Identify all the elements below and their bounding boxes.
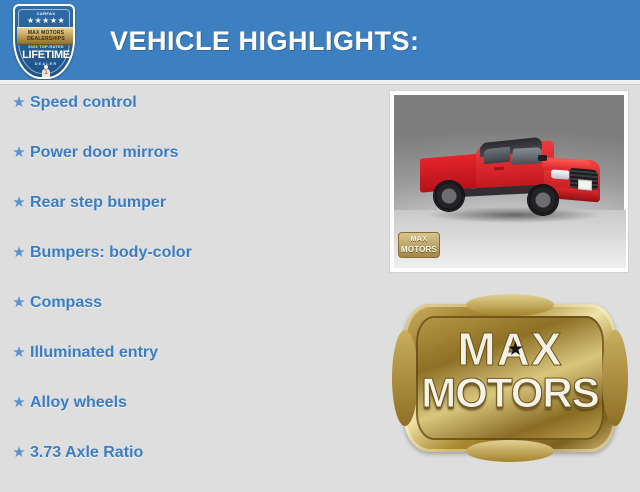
badge-stars-icon: ★★★★★ (15, 16, 75, 25)
feature-label: Bumpers: body-color (30, 242, 192, 264)
star-bullet-icon: ★ (8, 192, 30, 214)
logo-frame-notch-bottom (466, 440, 554, 462)
list-item: ★ Rear step bumper (8, 192, 338, 242)
feature-label: Speed control (30, 92, 137, 114)
list-item: ★ Illuminated entry (8, 342, 338, 392)
watermark-line-2: MOTORS (399, 245, 439, 254)
truck-license-plate (578, 179, 592, 190)
header-bar: CARFAX ★★★★★ MAX MOTORS DEALERSHIPS 2023… (0, 0, 640, 80)
star-bullet-icon: ★ (8, 442, 30, 464)
badge-person-icon: 1 (41, 65, 51, 79)
truck-side-mirror (538, 155, 547, 161)
badge-lifetime-label: LIFETIME (15, 49, 75, 61)
logo-gold-frame: MAX ★ MOTORS (404, 304, 616, 452)
list-item: ★ Bumpers: body-color (8, 242, 338, 292)
photo-watermark-logo: MAX MOTORS (398, 232, 440, 258)
star-bullet-icon: ★ (8, 142, 30, 164)
feature-label: Illuminated entry (30, 342, 158, 364)
page-title: VEHICLE HIGHLIGHTS: (110, 26, 420, 57)
header-divider (0, 80, 640, 85)
max-motors-logo[interactable]: MAX ★ MOTORS (404, 304, 616, 452)
feature-label: 3.73 Axle Ratio (30, 442, 143, 464)
list-item: ★ Speed control (8, 92, 338, 142)
list-item: ★ Power door mirrors (8, 142, 338, 192)
star-bullet-icon: ★ (8, 242, 30, 264)
logo-star-icon: ★ (507, 340, 524, 359)
list-item: ★ 3.73 Axle Ratio (8, 442, 338, 492)
star-bullet-icon: ★ (8, 92, 30, 114)
slide-root: CARFAX ★★★★★ MAX MOTORS DEALERSHIPS 2023… (0, 0, 640, 480)
feature-label: Alloy wheels (30, 392, 127, 414)
star-bullet-icon: ★ (8, 342, 30, 364)
badge-gold-band: MAX MOTORS DEALERSHIPS (17, 27, 75, 45)
logo-word-motors: MOTORS (416, 372, 604, 414)
star-bullet-icon: ★ (8, 292, 30, 314)
pickup-truck-illustration (418, 129, 608, 229)
truck-rear-wheel (434, 181, 464, 211)
logo-frame-notch-top (466, 294, 554, 316)
feature-label: Power door mirrors (30, 142, 178, 164)
vehicle-photo[interactable]: MAX MOTORS (389, 90, 629, 273)
feature-label: Compass (30, 292, 102, 314)
list-item: ★ Alloy wheels (8, 392, 338, 442)
star-bullet-icon: ★ (8, 392, 30, 414)
badge-figure-number: 1 (41, 69, 51, 76)
vehicle-highlights-list: ★ Speed control ★ Power door mirrors ★ R… (8, 92, 338, 492)
badge-shield-shape: CARFAX ★★★★★ MAX MOTORS DEALERSHIPS 2023… (13, 4, 75, 79)
list-item: ★ Compass (8, 292, 338, 342)
truck-headlight (551, 169, 569, 179)
carfax-lifetime-dealer-badge: CARFAX ★★★★★ MAX MOTORS DEALERSHIPS 2023… (13, 4, 75, 79)
truck-rear-window (484, 147, 510, 165)
feature-label: Rear step bumper (30, 192, 166, 214)
truck-front-wheel (528, 185, 558, 215)
watermark-line-1: MAX (399, 236, 439, 243)
logo-inner-plate: MAX ★ MOTORS (416, 316, 604, 440)
badge-dealer-name-line2: DEALERSHIPS (17, 36, 75, 42)
